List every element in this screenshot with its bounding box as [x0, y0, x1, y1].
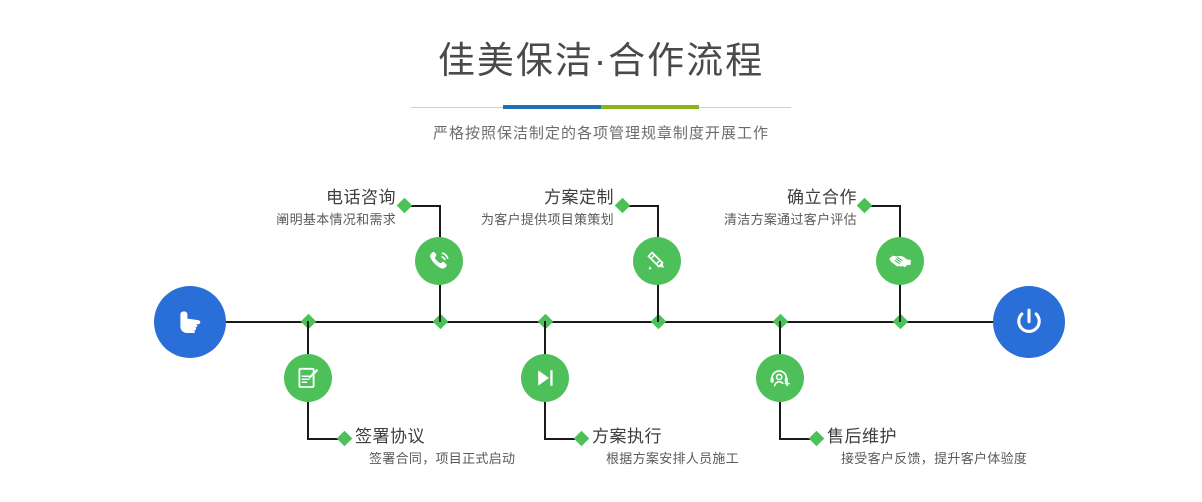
step-icon-customer-service[interactable]: [756, 354, 804, 402]
power-icon: [1010, 303, 1048, 341]
timeline-start-node[interactable]: [154, 286, 226, 358]
step-label-bottom-1: 签署协议 签署合同，项目正式启动: [355, 427, 515, 468]
step-icon-pencil-edit[interactable]: [633, 237, 681, 285]
top-label-diamond-2: [615, 198, 631, 214]
step-label-bottom-2: 方案执行 根据方案安排人员施工: [592, 427, 739, 468]
step-icon-handshake[interactable]: [876, 237, 924, 285]
step-title: 签署协议: [355, 427, 515, 447]
timeline-end-node[interactable]: [993, 286, 1065, 358]
handshake-icon: [886, 247, 914, 275]
step-label-top-1: 电话咨询 阐明基本情况和需求: [276, 188, 396, 229]
step-title: 电话咨询: [276, 188, 396, 208]
step-icon-document-sign[interactable]: [284, 354, 332, 402]
bottom-label-diamond-2: [574, 431, 590, 447]
step-desc: 签署合同，项目正式启动: [355, 450, 515, 468]
bottom-label-diamond-3: [809, 431, 825, 447]
step-desc: 清洁方案通过客户评估: [724, 211, 857, 229]
step-desc: 根据方案安排人员施工: [592, 450, 739, 468]
top-label-diamond-3: [857, 198, 873, 214]
step-icon-play-next[interactable]: [521, 354, 569, 402]
top-label-diamond-1: [397, 198, 413, 214]
step-desc: 为客户提供项目策策划: [481, 211, 614, 229]
document-sign-icon: [294, 364, 322, 392]
step-label-bottom-3: 售后维护 接受客户反馈，提升客户体验度: [827, 427, 1027, 468]
step-desc: 接受客户反馈，提升客户体验度: [827, 450, 1027, 468]
step-label-top-2: 方案定制 为客户提供项目策策划: [481, 188, 614, 229]
timeline: 电话咨询 阐明基本情况和需求 方案定制 为客户提: [0, 0, 1202, 502]
step-title: 方案定制: [481, 188, 614, 208]
pencil-edit-icon: [643, 247, 671, 275]
step-desc: 阐明基本情况和需求: [276, 211, 396, 229]
pointing-hand-icon: [172, 304, 208, 340]
step-label-top-3: 确立合作 清洁方案通过客户评估: [724, 188, 857, 229]
step-title: 售后维护: [827, 427, 1027, 447]
step-title: 确立合作: [724, 188, 857, 208]
customer-service-icon: [766, 364, 794, 392]
step-icon-phone-call[interactable]: [415, 237, 463, 285]
phone-call-icon: [425, 247, 453, 275]
bottom-label-diamond-1: [337, 431, 353, 447]
step-title: 方案执行: [592, 427, 739, 447]
cooperation-flow-infographic: 佳美保洁·合作流程 严格按照保洁制定的各项管理规章制度开展工作: [0, 0, 1202, 502]
play-next-icon: [531, 364, 559, 392]
